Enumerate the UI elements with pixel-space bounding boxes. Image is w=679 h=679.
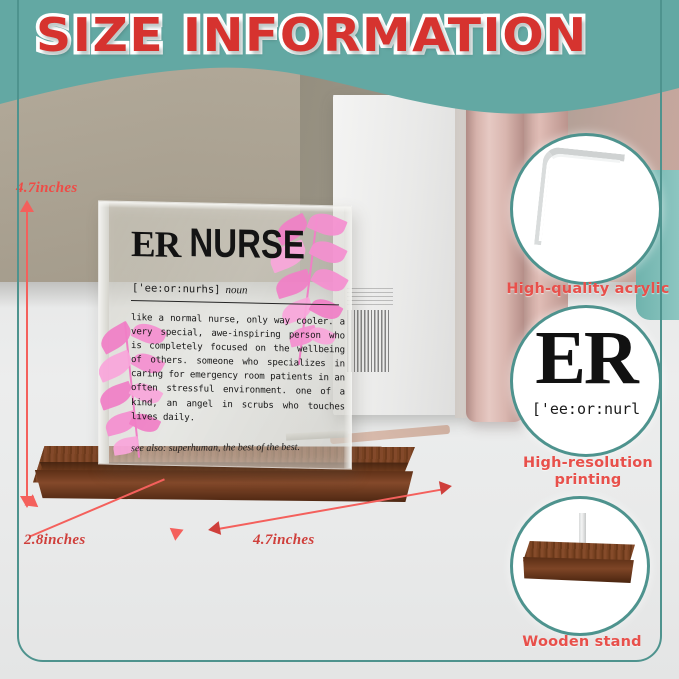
plaque-phonetic-line: ['ee:or:nurhs]noun <box>132 282 248 296</box>
plaque-part-of-speech: noun <box>226 284 248 296</box>
callout-high-quality-acrylic: High-quality acrylic <box>508 133 668 308</box>
callout-wooden-stand: Wooden stand <box>508 496 668 671</box>
acrylic-corner-highlight-icon <box>539 152 621 248</box>
callout-label-acrylic: High-quality acrylic <box>496 281 679 298</box>
callout-circle-printing: ER ['ee:or:nurl <box>510 305 662 457</box>
callout-high-resolution-printing: ER ['ee:or:nurl High-resolution printing <box>508 305 668 495</box>
width-arrow-start <box>207 521 221 537</box>
wooden-stand-front <box>31 470 417 502</box>
acrylic-plaque: ER NURSE ['ee:or:nurhs]noun like a norma… <box>98 200 352 469</box>
mini-support-post-icon <box>579 513 586 547</box>
header-band: SIZE INFORMATION <box>0 0 679 135</box>
callout-circle-wooden-stand <box>510 496 650 636</box>
width-dimension-label: 4.7inches <box>253 532 314 549</box>
zoomed-phonetic-text: ['ee:or:nurl <box>513 400 659 418</box>
wooden-stand-front-icon <box>522 557 635 583</box>
page-title: SIZE INFORMATION <box>36 8 588 62</box>
infographic-canvas: ER NURSE ['ee:or:nurhs]noun like a norma… <box>0 0 679 679</box>
callout-label-wooden-stand: Wooden stand <box>496 634 668 651</box>
plaque-see-also-text: see also: superhuman, the best of the be… <box>131 442 351 455</box>
marble-book-prop <box>333 95 468 415</box>
zoomed-er-text-icon: ER <box>513 320 659 396</box>
plaque-left-bevel <box>99 201 109 463</box>
plaque-definition-text: like a normal nurse, only way cooler. a … <box>131 311 345 428</box>
plaque-heading-nurse: NURSE <box>189 222 305 265</box>
height-dimension-label: 4.7inches <box>16 180 77 197</box>
callout-circle-acrylic <box>510 133 662 285</box>
plaque-heading: ER NURSE <box>131 226 305 267</box>
plaque-print-area: ER NURSE ['ee:or:nurhs]noun like a norma… <box>113 212 342 463</box>
depth-dimension-label: 2.8inches <box>24 532 85 549</box>
plaque-heading-er: ER <box>131 226 180 264</box>
height-dimension-line <box>26 210 28 500</box>
plaque-divider-rule <box>131 300 339 305</box>
callout-label-printing: High-resolution printing <box>496 455 679 489</box>
width-arrow-end <box>439 479 453 495</box>
height-arrow-up <box>20 200 34 212</box>
plaque-right-bevel <box>344 206 351 468</box>
plaque-phonetic-text: ['ee:or:nurhs] <box>132 282 221 296</box>
